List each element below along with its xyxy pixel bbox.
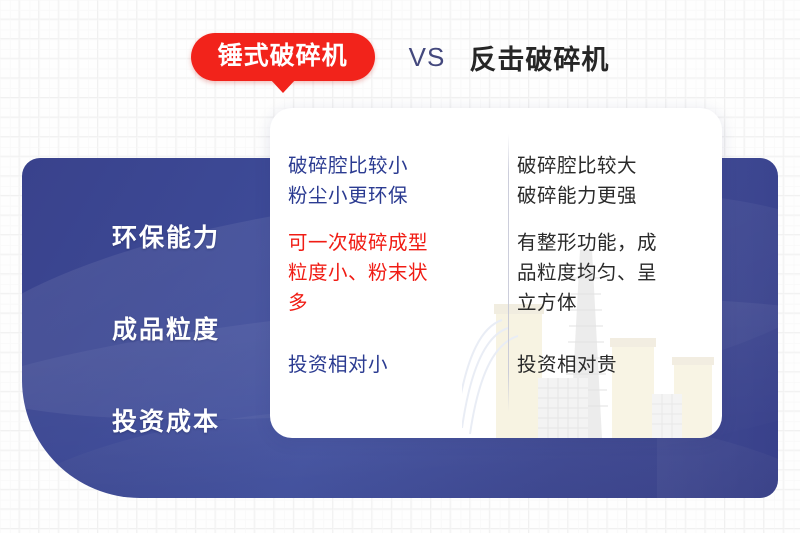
left-product-column: 破碎腔比较小 粉尘小更环保 可一次破碎成型 粒度小、粉末状 多 投资相对小 — [270, 108, 491, 438]
left-cell-environmental: 破碎腔比较小 粉尘小更环保 — [288, 135, 479, 227]
row-label-text: 投资成本 — [112, 402, 220, 438]
left-product-badge: 锤式破碎机 — [191, 33, 375, 81]
right-cell-text: 破碎腔比较大 破碎能力更强 — [517, 151, 708, 211]
comparison-columns: 破碎腔比较小 粉尘小更环保 可一次破碎成型 粒度小、粉末状 多 投资相对小 破碎… — [270, 108, 722, 438]
left-cell-text: 投资相对小 — [288, 350, 479, 380]
row-label-environmental: 环保能力 — [60, 190, 272, 282]
left-cell-text: 可一次破碎成型 粒度小、粉末状 多 — [288, 228, 479, 318]
comparison-infographic: 锤式破碎机 VS 反击破碎机 环保能力 成品粒度 投资成本 — [0, 0, 800, 533]
row-label-text: 成品粒度 — [112, 310, 220, 346]
left-cell-particle-size: 可一次破碎成型 粒度小、粉末状 多 — [288, 227, 479, 319]
vs-label: VS — [409, 42, 446, 73]
right-cell-text: 投资相对贵 — [517, 350, 708, 380]
row-label-text: 环保能力 — [112, 218, 220, 254]
row-label-investment-cost: 投资成本 — [60, 374, 272, 466]
right-product-title: 反击破碎机 — [469, 38, 609, 77]
right-cell-environmental: 破碎腔比较大 破碎能力更强 — [517, 135, 708, 227]
right-cell-particle-size: 有整形功能，成 品粒度均匀、呈 立方体 — [517, 227, 708, 319]
left-cell-investment-cost: 投资相对小 — [288, 319, 479, 411]
right-cell-investment-cost: 投资相对贵 — [517, 319, 708, 411]
left-cell-text: 破碎腔比较小 粉尘小更环保 — [288, 151, 479, 211]
badge-pointer-icon — [270, 79, 296, 93]
comparison-content-card: 破碎腔比较小 粉尘小更环保 可一次破碎成型 粒度小、粉末状 多 投资相对小 破碎… — [270, 108, 722, 438]
row-label-particle-size: 成品粒度 — [60, 282, 272, 374]
right-cell-text: 有整形功能，成 品粒度均匀、呈 立方体 — [517, 228, 708, 318]
right-product-column: 破碎腔比较大 破碎能力更强 有整形功能，成 品粒度均匀、呈 立方体 投资相对贵 — [491, 108, 722, 438]
row-label-column: 环保能力 成品粒度 投资成本 — [60, 158, 272, 498]
left-product-badge-label: 锤式破碎机 — [191, 33, 375, 81]
header-row: 锤式破碎机 VS 反击破碎机 — [0, 28, 800, 86]
